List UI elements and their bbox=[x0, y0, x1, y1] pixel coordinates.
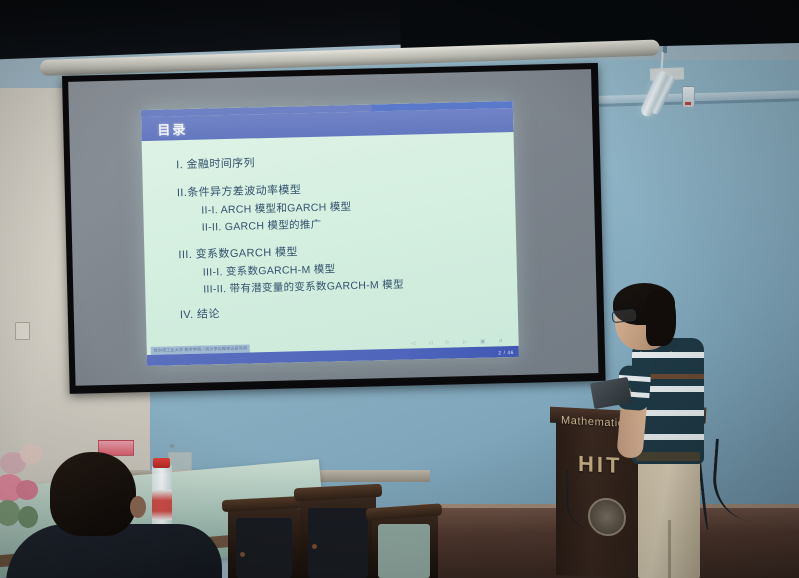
presenter-leg-seam bbox=[668, 520, 671, 578]
slide-outline-list: I. 金融时间序列 II.条件异方差波动率模型 II-I. ARCH 模型和GA… bbox=[142, 132, 519, 346]
presenter-hair-back bbox=[646, 290, 676, 346]
chair[interactable] bbox=[372, 512, 438, 578]
slide-nav-icons[interactable]: ◁ ◁ ▷ ▷ ▣ ↺ bbox=[411, 338, 508, 346]
audience-head bbox=[50, 452, 136, 536]
audience-member-seated bbox=[20, 452, 210, 578]
chair[interactable] bbox=[228, 504, 300, 578]
projection-screen: 目录 I. 金融时间序列 II.条件异方差波动率模型 II-I. ARCH 模型… bbox=[62, 63, 606, 394]
slide-title: 目录 bbox=[157, 118, 187, 138]
lecture-hall-photo: 目录 I. 金融时间序列 II.条件异方差波动率模型 II-I. ARCH 模型… bbox=[0, 0, 799, 578]
page-indicator: 2 / 46 bbox=[498, 350, 514, 356]
wall-mounted-sensor-icon[interactable] bbox=[682, 86, 695, 108]
audience-ear bbox=[130, 496, 146, 518]
wall-dot bbox=[170, 444, 174, 448]
glasses-icon bbox=[611, 309, 636, 323]
light-switch-icon[interactable] bbox=[15, 322, 30, 340]
chair[interactable] bbox=[300, 492, 376, 578]
presenter-belt bbox=[636, 452, 700, 461]
projected-slide: 目录 I. 金融时间序列 II.条件异方差波动率模型 II-I. ARCH 模型… bbox=[141, 101, 519, 366]
